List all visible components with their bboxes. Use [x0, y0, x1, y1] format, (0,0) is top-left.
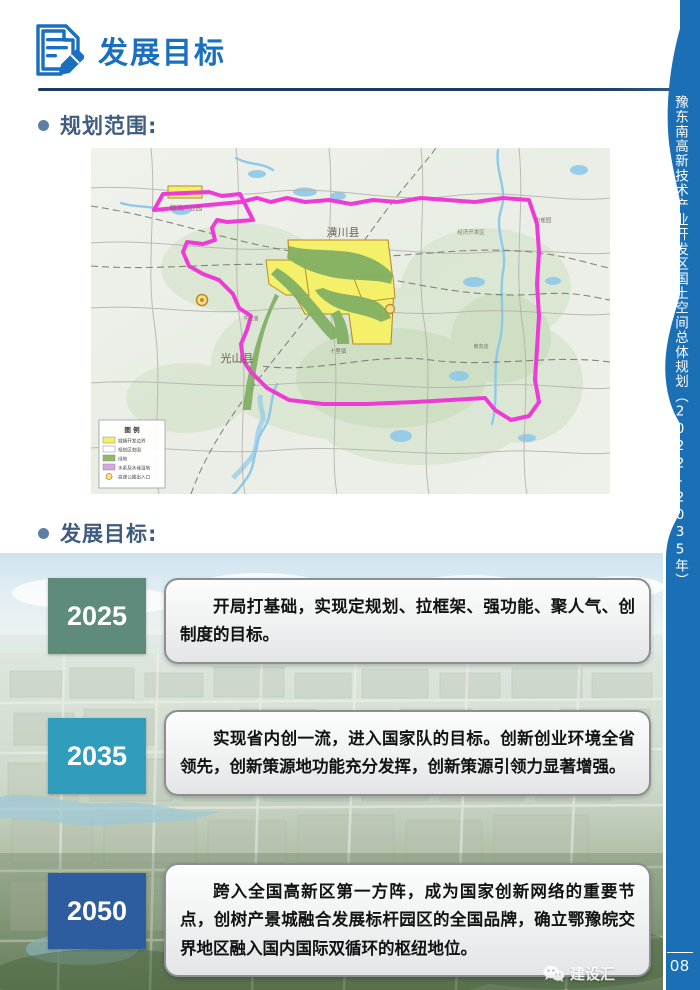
- page-sidebar: 豫东南高新技术产业开发区国土空间总体规划（2022-2035年） 08: [660, 0, 700, 990]
- goal-year-badge: 2025: [48, 578, 146, 654]
- page-title: 发展目标: [98, 28, 226, 72]
- map-label-industrial-park: 物流产业园: [170, 203, 203, 212]
- map-label-town-1: 十里镇: [330, 347, 347, 355]
- goal-description: 开局打基础，实现定规划、拉框架、强功能、聚人气、创制度的目标。: [164, 578, 651, 664]
- map-label-town-3: 牛王庙: [243, 315, 258, 322]
- page-header: 发展目标: [0, 0, 700, 98]
- goal-row: 2025 开局打基础，实现定规划、拉框架、强功能、聚人气、创制度的目标。: [48, 578, 651, 664]
- section-heading-goals-label: 发展目标:: [60, 518, 157, 548]
- map-label-guangshan: 光山县: [221, 351, 254, 365]
- svg-text:水系及水域湿地: 水系及水域湿地: [118, 465, 151, 472]
- section-heading-scope-label: 规划范围:: [60, 110, 157, 140]
- section-heading-scope: 规划范围:: [38, 110, 157, 140]
- goal-row: 2050 跨入全国高新区第一方阵，成为国家创新网络的重要节点，创树产景城融合发展…: [48, 873, 651, 977]
- goal-year-badge: 2050: [48, 873, 146, 949]
- map-label-dev-zone: 经济开发区: [457, 228, 485, 236]
- planning-scope-map: 潢川县 · 光山县 物流产业园 经济开发区 十里镇 白雀园 牛王庙 南向店 图 …: [91, 148, 610, 494]
- map-label-town-2: 白雀园: [535, 216, 552, 224]
- header-divider: [38, 88, 688, 91]
- document-pencil-icon: [32, 22, 84, 78]
- svg-text:高速公路出入口: 高速公路出入口: [118, 474, 151, 481]
- sidebar-page-rule: [667, 952, 693, 954]
- development-goals-section: 2025 开局打基础，实现定规划、拉框架、强功能、聚人气、创制度的目标。 203…: [0, 553, 663, 990]
- goal-description: 跨入全国高新区第一方阵，成为国家创新网络的重要节点，创树产景城融合发展标杆园区的…: [164, 863, 651, 977]
- goal-row: 2035 实现省内创一流，进入国家队的目标。创新创业环境全省领先，创新策源地功能…: [48, 718, 651, 796]
- page-number: 08: [660, 958, 700, 976]
- map-label-town-4: 南向店: [473, 343, 488, 350]
- goal-year-badge: 2035: [48, 718, 146, 794]
- sidebar-title: 豫东南高新技术产业开发区国土空间总体规划（2022-2035年）: [660, 95, 700, 588]
- map-label-huangchuan: 潢川县: [327, 226, 360, 239]
- svg-text:绿地: 绿地: [118, 456, 128, 463]
- map-legend: 图 例 城镇开发边界 规划区范围 绿地 水系及水域湿地 高速公路出入口: [99, 420, 165, 488]
- svg-text:城镇开发边界: 城镇开发边界: [118, 438, 146, 445]
- section-heading-goals: 发展目标:: [38, 518, 157, 548]
- bullet-dot-icon: [38, 120, 49, 131]
- svg-text:规划区范围: 规划区范围: [118, 447, 141, 454]
- goal-description: 实现省内创一流，进入国家队的目标。创新创业环境全省领先，创新策源地功能充分发挥，…: [164, 710, 651, 796]
- map-canvas: 潢川县 · 光山县 物流产业园 经济开发区 十里镇 白雀园 牛王庙 南向店 图 …: [91, 148, 610, 494]
- map-legend-title: 图 例: [124, 425, 140, 434]
- bullet-dot-icon: [38, 528, 49, 539]
